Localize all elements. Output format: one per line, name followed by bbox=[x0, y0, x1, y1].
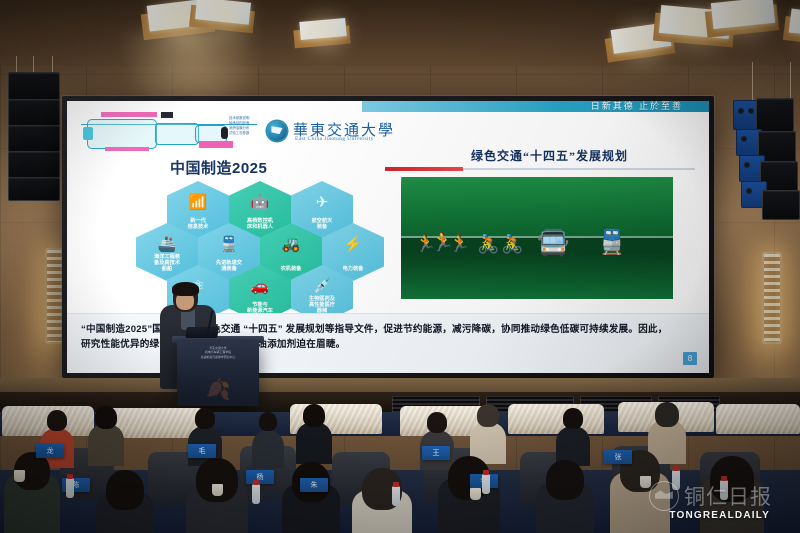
bottle-cap bbox=[673, 466, 679, 471]
audience-member-head bbox=[47, 410, 67, 431]
cad-tip bbox=[221, 127, 228, 139]
paper-cup bbox=[470, 488, 481, 500]
power-tower-icon: ⚡ bbox=[322, 235, 384, 255]
watermark-text-cn: 铜仁日报 bbox=[684, 481, 772, 511]
slide-page-number: 8 bbox=[683, 352, 697, 365]
university-crest-icon bbox=[267, 121, 287, 141]
watermark-text-en: TONGREALDAILY bbox=[669, 510, 770, 521]
line-array-speaker-left-4 bbox=[8, 151, 60, 178]
name-placard: 王 bbox=[422, 446, 450, 460]
right-title-rule bbox=[463, 168, 695, 170]
cad-marker bbox=[161, 112, 173, 118]
audience-member-body bbox=[296, 422, 332, 464]
pedestrian-icon: 🏃 bbox=[449, 235, 470, 252]
cyclist-icon: 🚴 bbox=[477, 235, 499, 253]
name-placard: 张 bbox=[604, 450, 632, 464]
line-array-speaker-right-4 bbox=[762, 190, 800, 220]
bottle-cap bbox=[393, 482, 399, 487]
right-title-accent-bar bbox=[385, 167, 463, 171]
cad-highlight-bottom bbox=[199, 141, 233, 148]
audience-member-head bbox=[477, 404, 499, 427]
line-array-speaker-left-1 bbox=[8, 72, 60, 100]
wall-sconce-right bbox=[762, 252, 782, 344]
audience-member-head bbox=[427, 412, 447, 433]
ceiling-panel-glow bbox=[290, 14, 360, 52]
water-bottle bbox=[392, 486, 400, 506]
line-array-speaker-left-5 bbox=[8, 177, 60, 201]
slide-left-heading: 中国制造2025 bbox=[170, 157, 267, 178]
bottle-cap bbox=[67, 474, 73, 479]
cad-endcap-left bbox=[83, 127, 93, 140]
high-speed-train-icon: 🚆 bbox=[597, 231, 627, 255]
audience-member-head bbox=[303, 404, 325, 427]
audience-member-head bbox=[259, 412, 277, 431]
audience-member-head bbox=[106, 470, 144, 510]
audience-member-head bbox=[95, 406, 117, 429]
cad-note-4: 试验工况参数 bbox=[229, 131, 249, 136]
conference-hall-photo: 日新其德 止於至善 技术参数说明 轴承结构剖面 润滑油膜分布 bbox=[0, 0, 800, 533]
cad-note-3: 润滑油膜分布 bbox=[229, 126, 249, 131]
cad-shaft bbox=[155, 123, 199, 145]
cad-drawing: 技术参数说明 轴承结构剖面 润滑油膜分布 试验工况参数 bbox=[79, 111, 259, 155]
china-manufacturing-hexagon-grid: 📶新一代 信息技术🤖高档数控机 床和机器人✈航空航天 装备🚢海洋工程装 备及高技… bbox=[123, 181, 383, 321]
high-speed-train-icon: 🚆 bbox=[198, 235, 260, 255]
name-placard: 朱 bbox=[300, 478, 328, 492]
audience-member-head bbox=[546, 460, 584, 500]
paper-cup bbox=[14, 470, 25, 482]
audience-member-body bbox=[252, 430, 284, 468]
cad-housing bbox=[87, 119, 157, 149]
cad-highlight-top bbox=[101, 112, 157, 117]
speaker-driver-5 bbox=[746, 188, 752, 194]
watermark: 铜仁日报 bbox=[649, 481, 772, 511]
audience-member-head bbox=[655, 402, 679, 427]
university-name-en: East China Jiaotong University bbox=[295, 136, 374, 142]
water-bottle bbox=[66, 478, 74, 498]
tractor-icon: 🚜 bbox=[260, 235, 322, 255]
podium-plate-text: 华东交通大学 机电与车辆工程学院 先进制造与摩擦学研究中心 bbox=[185, 346, 251, 359]
antenna-signal-icon: 📶 bbox=[167, 193, 229, 213]
laptop-icon bbox=[185, 327, 219, 338]
bus-icon: 🚍 bbox=[537, 229, 569, 255]
bottle-cap bbox=[253, 480, 259, 485]
podium: 华东交通大学 机电与车辆工程学院 先进制造与摩擦学研究中心 🍂 bbox=[177, 341, 259, 406]
airplane-icon: ✈ bbox=[291, 193, 353, 213]
speaker-rig-wire-right-a bbox=[752, 62, 753, 100]
audience-member-head bbox=[195, 408, 215, 429]
green-transport-image: 🏃🏃🏃🚴🚴🚍🚆 bbox=[401, 177, 673, 299]
slide-right-title: 绿色交通“十四五”发展规划 bbox=[471, 147, 628, 164]
name-placard: 龙 bbox=[36, 444, 64, 458]
cad-note-1: 技术参数说明 bbox=[229, 116, 249, 121]
slide-motto: 日新其德 止於至善 bbox=[591, 101, 683, 112]
paper-cup bbox=[212, 484, 223, 496]
bottle-cap bbox=[483, 470, 489, 475]
speaker-driver-1 bbox=[738, 108, 744, 114]
name-placard: 毛 bbox=[188, 444, 216, 458]
table-cloth bbox=[508, 404, 604, 434]
water-bottle bbox=[482, 474, 490, 494]
speaker-driver-2 bbox=[748, 108, 754, 114]
medical-kit-icon: 💉 bbox=[291, 277, 353, 297]
leaf-emblem-icon: 🍂 bbox=[205, 377, 231, 401]
robot-icon: 🤖 bbox=[229, 193, 291, 213]
cyclist-icon: 🚴 bbox=[501, 235, 523, 253]
line-array-speaker-left-2 bbox=[8, 99, 60, 126]
speaker-rig-wire-right-b bbox=[790, 62, 791, 102]
audience-member-body bbox=[88, 424, 124, 466]
presenter-hair bbox=[172, 282, 199, 296]
car-icon: 🚗 bbox=[229, 277, 291, 297]
ship-icon: 🚢 bbox=[136, 235, 198, 255]
cad-note-2: 轴承结构剖面 bbox=[229, 121, 249, 126]
news-seal-icon bbox=[649, 481, 679, 511]
name-placard: 杨 bbox=[246, 470, 274, 484]
line-array-speaker-left-3 bbox=[8, 125, 60, 152]
line-array-speaker-right-1 bbox=[756, 98, 794, 132]
audience-member-head bbox=[563, 408, 583, 429]
speaker-driver-4 bbox=[744, 162, 750, 168]
cad-highlight-base bbox=[105, 147, 149, 151]
table-cloth bbox=[716, 404, 800, 434]
speaker-driver-3 bbox=[741, 136, 747, 142]
water-bottle bbox=[252, 484, 260, 504]
